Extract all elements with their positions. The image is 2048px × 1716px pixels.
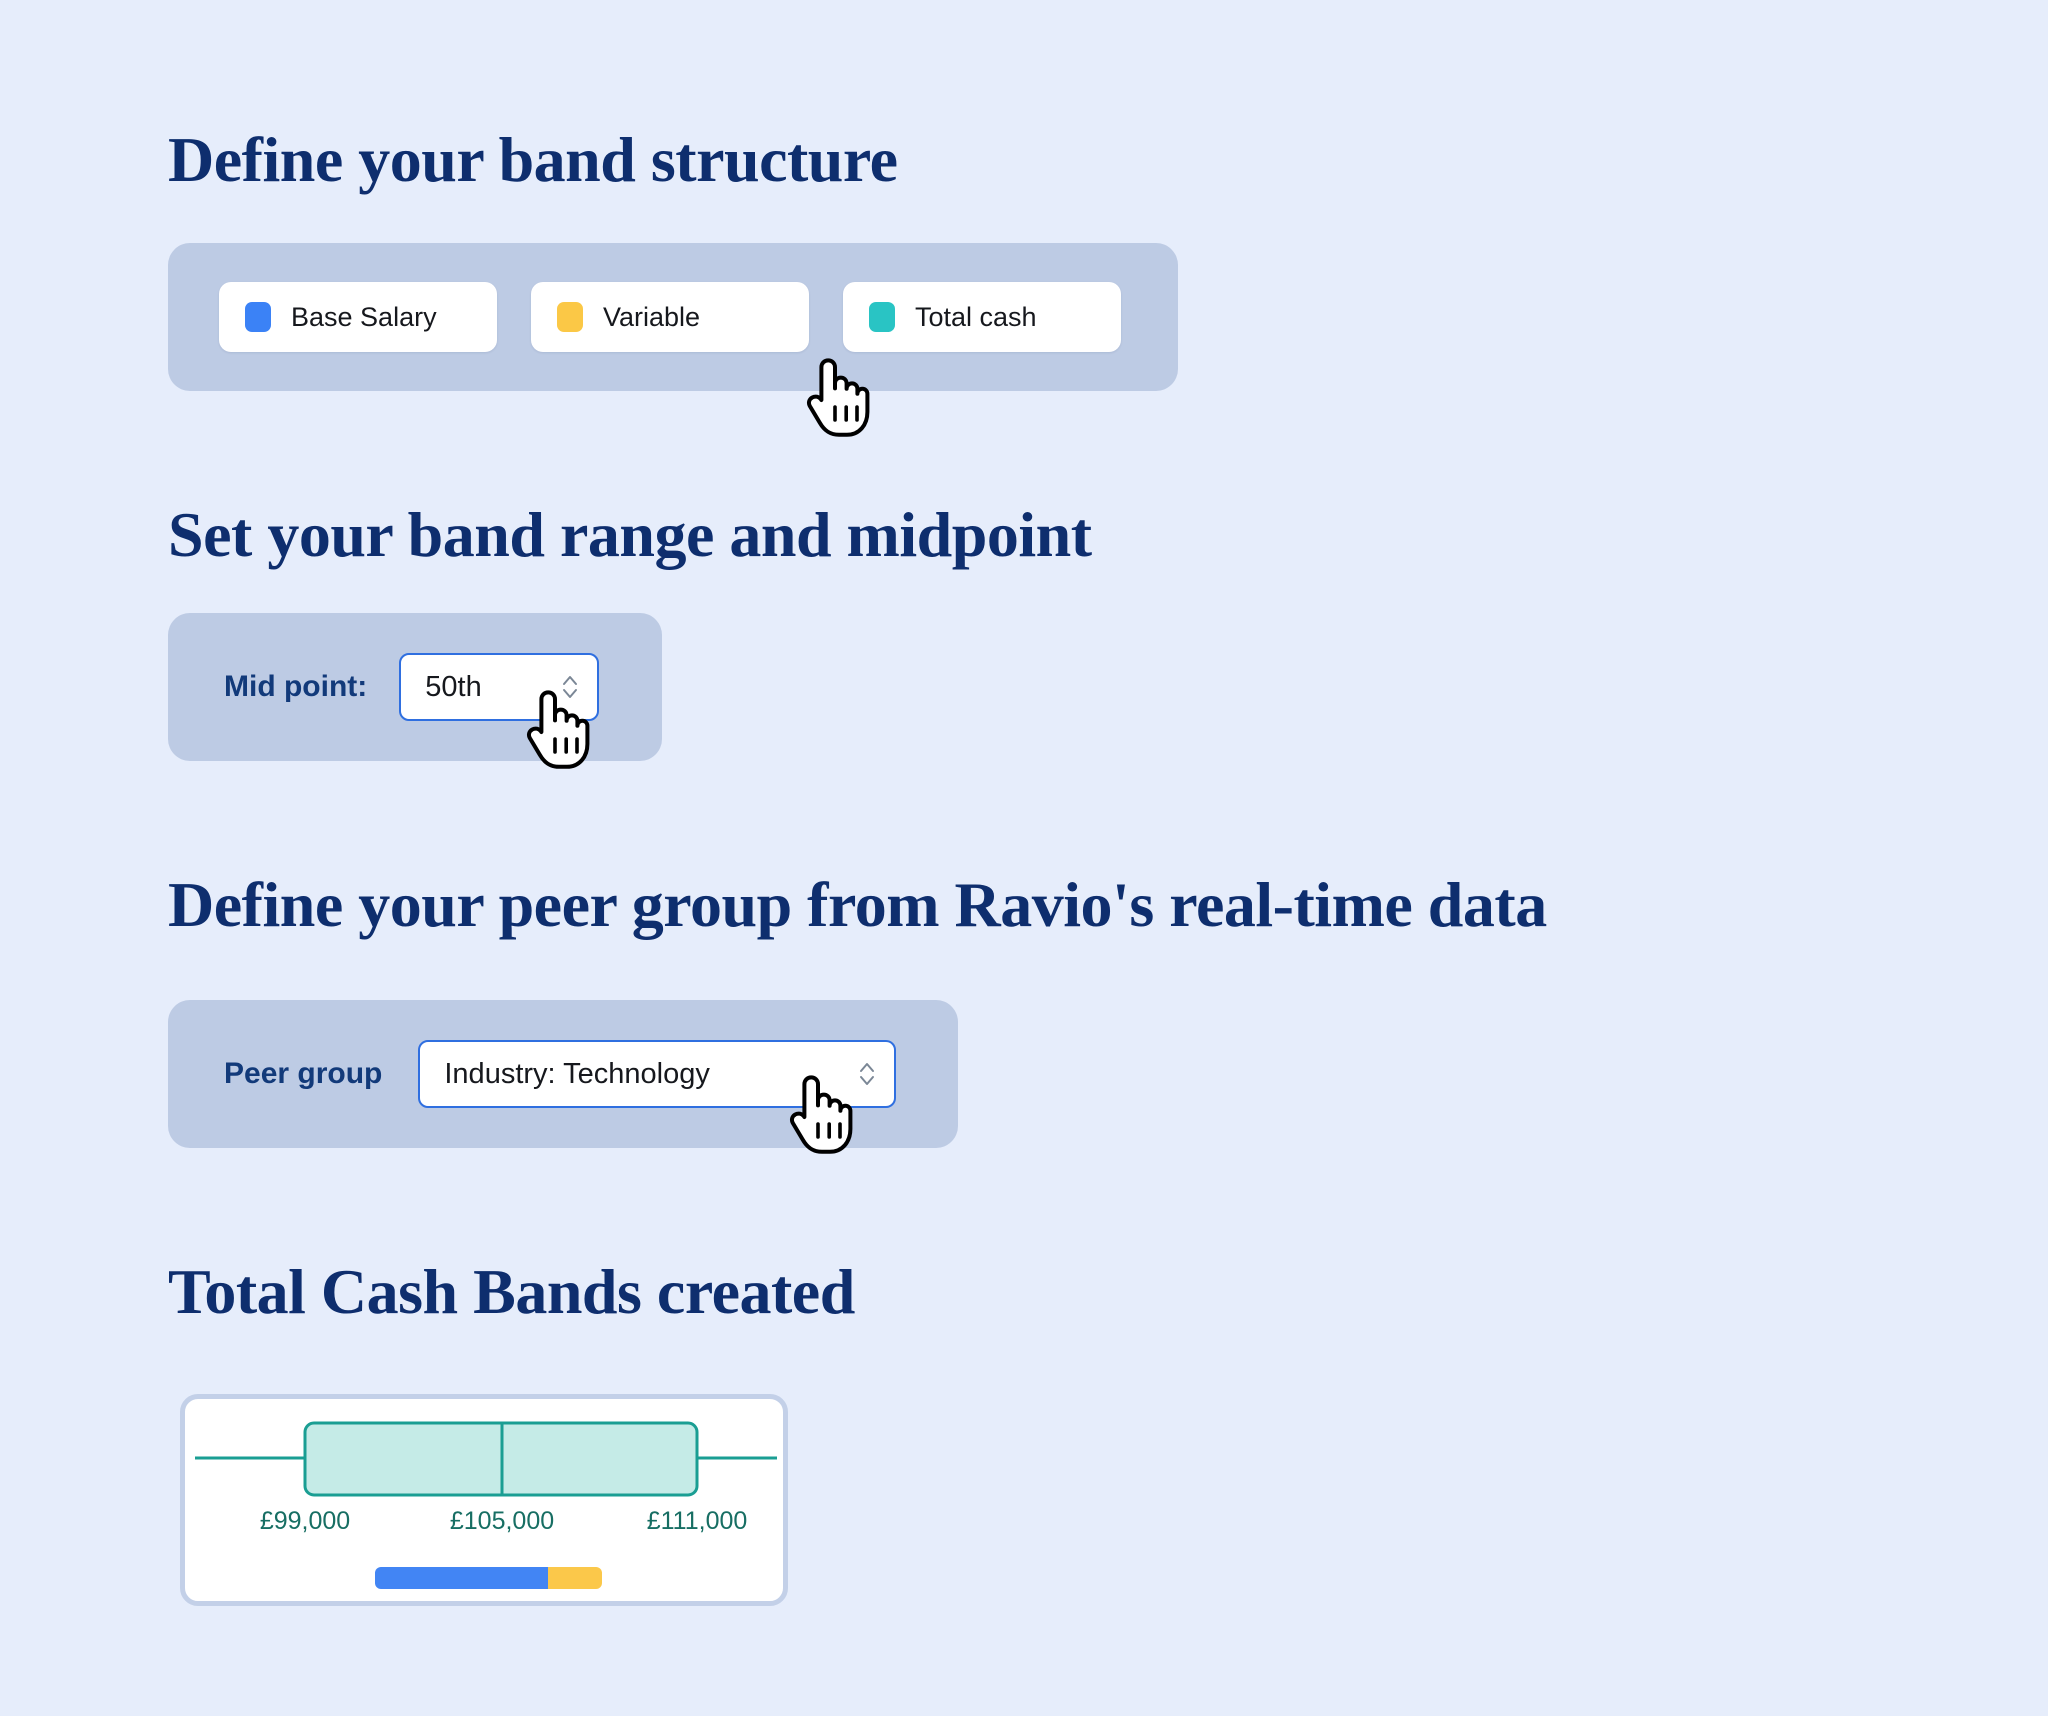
axis-tick-label-upper-quartile: £111,000: [647, 1507, 748, 1536]
section-heading-peer-group: Define your peer group from Ravio's real…: [168, 873, 1547, 937]
midpoint-panel: Mid point: 50th: [168, 613, 662, 761]
midpoint-select[interactable]: 50th: [399, 653, 599, 721]
peer-group-select-value: Industry: Technology: [444, 1058, 709, 1091]
composition-bar-segment-base-salary: [375, 1567, 548, 1589]
midpoint-select-value: 50th: [425, 671, 481, 704]
chip-total-cash[interactable]: Total cash: [843, 282, 1121, 352]
box-plot-chart: [185, 1399, 783, 1517]
band-structure-panel: Base Salary Variable Total cash: [168, 243, 1178, 391]
peer-group-select[interactable]: Industry: Technology: [418, 1040, 896, 1108]
axis-tick-label-lower-quartile: £99,000: [260, 1507, 350, 1536]
peer-group-label: Peer group: [224, 1057, 382, 1091]
composition-bar: [375, 1567, 602, 1589]
section-heading-band-range: Set your band range and midpoint: [168, 503, 1092, 567]
chip-variable[interactable]: Variable: [531, 282, 809, 352]
color-swatch-icon-variable: [557, 302, 583, 332]
stepper-chevrons-icon[interactable]: [561, 673, 579, 701]
axis-tick-label-median: £105,000: [450, 1507, 554, 1536]
peer-group-panel: Peer group Industry: Technology: [168, 1000, 958, 1148]
section-heading-results: Total Cash Bands created: [168, 1260, 855, 1324]
chip-label-total-cash: Total cash: [915, 302, 1037, 333]
midpoint-label: Mid point:: [224, 670, 367, 704]
total-cash-bands-card: £99,000 £105,000 £111,000: [180, 1394, 788, 1606]
chip-base-salary[interactable]: Base Salary: [219, 282, 497, 352]
stepper-chevrons-icon[interactable]: [858, 1060, 876, 1088]
page-root: Define your band structure Base Salary V…: [0, 0, 2048, 1716]
box-plot-axis-labels: £99,000 £105,000 £111,000: [185, 1507, 783, 1547]
section-heading-band-structure: Define your band structure: [168, 128, 898, 192]
chip-label-variable: Variable: [603, 302, 700, 333]
chip-label-base-salary: Base Salary: [291, 302, 437, 333]
color-swatch-icon-total-cash: [869, 302, 895, 332]
color-swatch-icon-base-salary: [245, 302, 271, 332]
composition-bar-segment-variable: [548, 1567, 602, 1589]
